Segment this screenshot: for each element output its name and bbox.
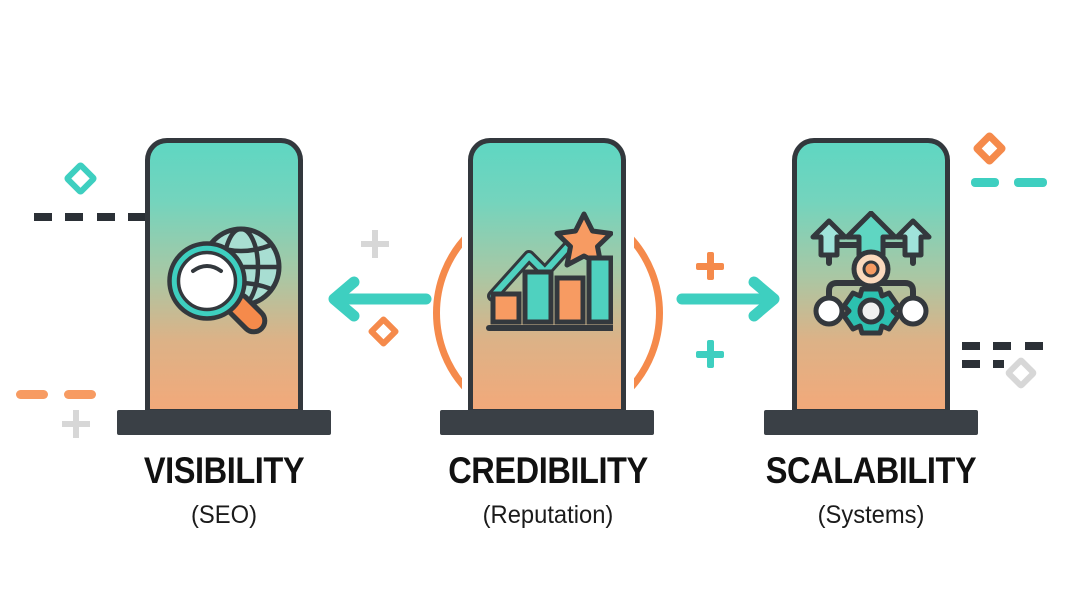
panel-credibility (468, 138, 626, 414)
pillar-subtitle-scalability: (Systems) (700, 501, 1042, 530)
infographic-canvas: VISIBILITY (SEO) (0, 0, 1080, 608)
magnifier-globe-icon (150, 143, 298, 409)
pillar-title-scalability: SCALABILITY (713, 452, 1030, 491)
base-credibility (440, 410, 654, 435)
pillar-title-visibility: VISIBILITY (66, 452, 383, 491)
orange-diamond-top-right (972, 131, 1007, 166)
caption-scalability: SCALABILITY (Systems) (691, 452, 1051, 530)
teal-dashes-top-right (971, 174, 1047, 192)
network-gear-arrows-icon (797, 143, 945, 409)
left-arrow[interactable] (322, 272, 432, 326)
pillar-subtitle-visibility: (SEO) (53, 501, 395, 530)
orange-plus-mid-right (696, 252, 724, 280)
gray-plus-mid-left (361, 230, 389, 258)
pillar-title-credibility: CREDIBILITY (390, 452, 707, 491)
panel-scalability (792, 138, 950, 414)
caption-visibility: VISIBILITY (SEO) (44, 452, 404, 530)
panel-visibility (145, 138, 303, 414)
teal-plus-mid-right (696, 340, 724, 368)
right-arrow[interactable] (676, 272, 786, 326)
base-visibility (117, 410, 331, 435)
caption-credibility: CREDIBILITY (Reputation) (368, 452, 728, 530)
gray-plus-bottom-left (62, 410, 90, 438)
base-scalability (764, 410, 978, 435)
orange-dashes-bottom-left (16, 386, 96, 404)
growth-chart-star-icon (473, 143, 621, 409)
teal-diamond-top-left (63, 161, 98, 196)
pillar-subtitle-credibility: (Reputation) (377, 501, 719, 530)
